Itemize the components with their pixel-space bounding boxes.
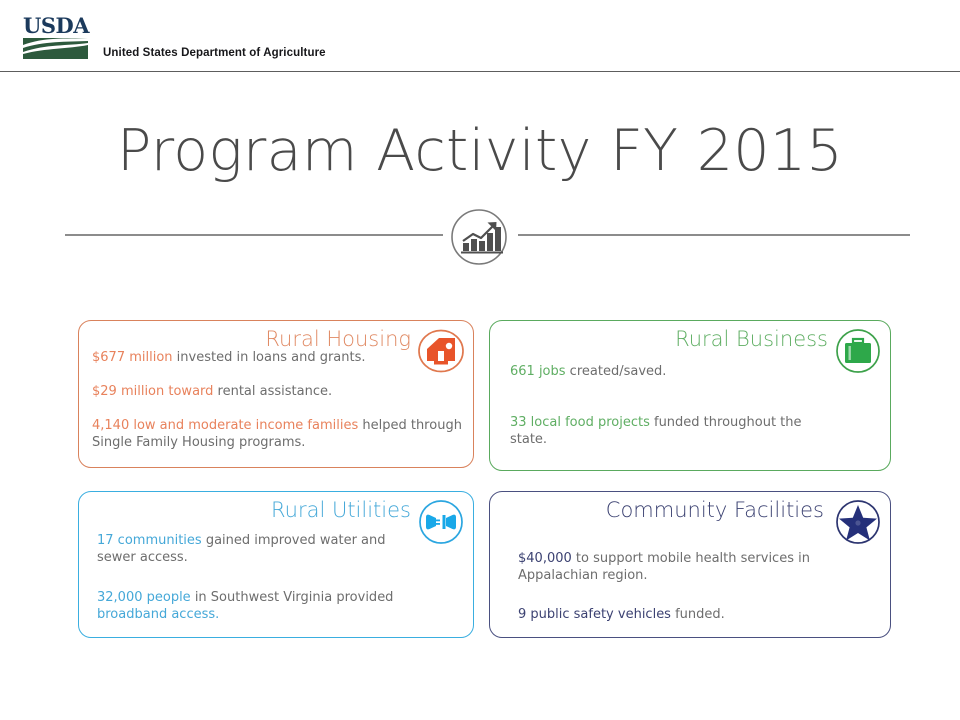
divider-line-right bbox=[518, 234, 910, 236]
header-divider-rule bbox=[0, 71, 960, 72]
stat-highlight: $29 million toward bbox=[92, 384, 213, 399]
stat-rest: rental assistance. bbox=[213, 384, 332, 399]
svg-text:USDA: USDA bbox=[23, 14, 90, 38]
card-title-rural-business: Rural Business bbox=[675, 327, 828, 351]
stat-highlight: $677 million bbox=[92, 350, 173, 365]
stat-line: 32,000 people in Southwest Virginia prov… bbox=[97, 589, 421, 623]
stat-line: $29 million toward rental assistance. bbox=[92, 383, 463, 400]
stat-highlight: 9 public safety vehicles bbox=[518, 607, 671, 622]
usda-logo: USDA bbox=[22, 14, 94, 60]
stat-highlight-secondary: broadband access. bbox=[97, 607, 219, 622]
stat-highlight: 32,000 people bbox=[97, 590, 191, 605]
card-rural-housing[interactable]: Rural Housing $677 million invested in l… bbox=[78, 320, 474, 468]
stat-line: 33 local food projects funded throughout… bbox=[510, 414, 828, 448]
bar-chart-growth-icon bbox=[450, 208, 508, 266]
stat-highlight: 4,140 low and moderate income families bbox=[92, 418, 358, 433]
sheriff-star-badge-icon bbox=[834, 498, 882, 546]
stat-highlight: $40,000 bbox=[518, 551, 572, 566]
stat-rest: in Southwest Virginia provided bbox=[191, 590, 394, 605]
card-title-rural-housing: Rural Housing bbox=[265, 327, 411, 351]
card-body-rural-housing: $677 million invested in loans and grant… bbox=[92, 349, 463, 451]
stat-line: $40,000 to support mobile health service… bbox=[518, 550, 834, 584]
card-body-rural-business: 661 jobs created/saved. 33 local food pr… bbox=[510, 363, 828, 482]
stat-line: 9 public safety vehicles funded. bbox=[518, 606, 834, 623]
stat-highlight: 17 communities bbox=[97, 533, 202, 548]
power-plug-icon bbox=[417, 498, 465, 546]
divider-line-left bbox=[65, 234, 443, 236]
stat-line: 4,140 low and moderate income families h… bbox=[92, 417, 463, 451]
stat-line: $677 million invested in loans and grant… bbox=[92, 349, 463, 366]
stat-rest: invested in loans and grants. bbox=[173, 350, 366, 365]
card-community-facilities[interactable]: Community Facilities $40,000 to support … bbox=[489, 491, 891, 638]
section-divider bbox=[0, 208, 960, 266]
stat-line: 661 jobs created/saved. bbox=[510, 363, 828, 380]
stat-rest: funded. bbox=[671, 607, 725, 622]
page-header: USDA United States Department of Agricul… bbox=[0, 0, 960, 72]
stat-highlight: 33 local food projects bbox=[510, 415, 650, 430]
card-title-rural-utilities: Rural Utilities bbox=[271, 498, 411, 522]
card-body-rural-utilities: 17 communities gained improved water and… bbox=[97, 532, 421, 646]
card-body-community-facilities: $40,000 to support mobile health service… bbox=[518, 550, 834, 645]
card-rural-business[interactable]: Rural Business 661 jobs created/saved. 3… bbox=[489, 320, 891, 471]
stat-line: 17 communities gained improved water and… bbox=[97, 532, 421, 566]
stat-rest: created/saved. bbox=[566, 364, 667, 379]
page-title: Program Activity FY 2015 bbox=[0, 118, 960, 184]
card-title-community-facilities: Community Facilities bbox=[606, 498, 824, 522]
stat-highlight: 661 jobs bbox=[510, 364, 566, 379]
usda-wordmark-text: United States Department of Agriculture bbox=[103, 47, 326, 59]
briefcase-icon bbox=[834, 327, 882, 375]
card-rural-utilities[interactable]: Rural Utilities 17 communities gained im… bbox=[78, 491, 474, 638]
